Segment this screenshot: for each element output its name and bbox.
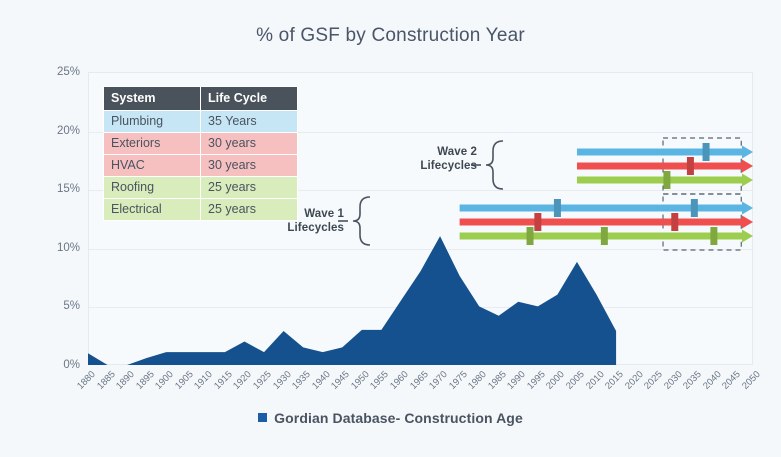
table-header-life-cycle: Life Cycle bbox=[201, 87, 298, 111]
table-cell-system: Exteriors bbox=[104, 133, 201, 155]
wave-2-label-line2: Lifecycles bbox=[405, 159, 477, 173]
table-row: Exteriors30 years bbox=[104, 133, 298, 155]
chart-container: % of GSF by Construction Year % of GSF 2… bbox=[0, 0, 781, 457]
table-cell-life-cycle: 35 Years bbox=[201, 111, 298, 133]
table-cell-life-cycle: 30 years bbox=[201, 133, 298, 155]
wave-2-label: Wave 2 Lifecycles bbox=[405, 145, 477, 173]
table-cell-life-cycle: 30 years bbox=[201, 155, 298, 177]
table-cell-system: Electrical bbox=[104, 199, 201, 221]
table-cell-system: Roofing bbox=[104, 177, 201, 199]
wave-2-label-line1: Wave 2 bbox=[405, 145, 477, 159]
chart-legend: Gordian Database- Construction Age bbox=[0, 410, 781, 426]
legend-label-gordian: Gordian Database- Construction Age bbox=[274, 410, 523, 426]
table-row: Plumbing35 Years bbox=[104, 111, 298, 133]
table-header-row: System Life Cycle bbox=[104, 87, 298, 111]
area-series-gordian bbox=[88, 236, 616, 365]
chart-graphics bbox=[0, 0, 781, 457]
table-cell-life-cycle: 25 years bbox=[201, 177, 298, 199]
legend-swatch-gordian bbox=[258, 413, 267, 422]
table-header-system: System bbox=[104, 87, 201, 111]
table-row: Roofing25 years bbox=[104, 177, 298, 199]
wave-1-label-line1: Wave 1 bbox=[272, 207, 344, 221]
table-row: HVAC30 years bbox=[104, 155, 298, 177]
wave-1-label: Wave 1 Lifecycles bbox=[272, 207, 344, 235]
lifecycle-table: System Life Cycle Plumbing35 YearsExteri… bbox=[103, 86, 298, 221]
table-cell-system: Plumbing bbox=[104, 111, 201, 133]
table-body: Plumbing35 YearsExteriors30 yearsHVAC30 … bbox=[104, 111, 298, 221]
wave-1-label-line2: Lifecycles bbox=[272, 221, 344, 235]
table-row: Electrical25 years bbox=[104, 199, 298, 221]
wave-annotations bbox=[338, 138, 753, 250]
table-cell-system: HVAC bbox=[104, 155, 201, 177]
